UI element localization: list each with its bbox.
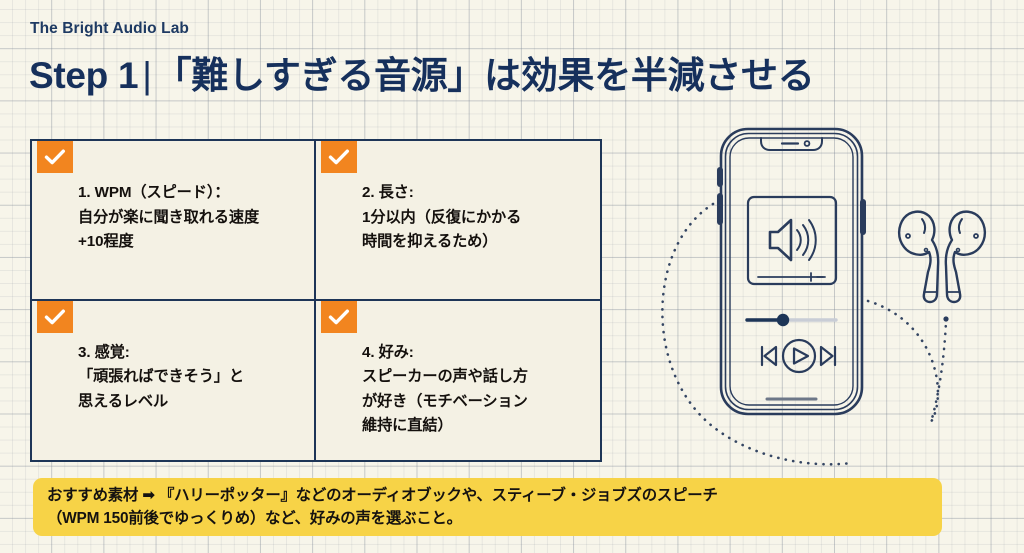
title-step-label: Step 1 <box>29 55 138 96</box>
transport-controls <box>762 340 835 372</box>
brand-eyebrow: The Bright Audio Lab <box>30 20 189 38</box>
speaker-volume-icon <box>770 220 816 260</box>
criteria-table: 1. WPM（スピード）： 自分が楽に聞き取れる速度 +10程度 2. 長さ: … <box>30 139 602 462</box>
wireless-earbuds-icon <box>899 212 985 302</box>
dotted-arc-right <box>868 301 946 422</box>
criteria-cell-2: 2. 長さ: 1分以内（反復にかかる 時間を抑えるため） <box>316 141 600 301</box>
audio-illustration <box>636 126 1024 476</box>
previous-track-icon <box>762 347 776 365</box>
page-title: Step 1|「難しすぎる音源」は効果を半減させる <box>29 45 814 99</box>
criteria-cell-text: 3. 感覚: 「頑張ればできそう」と 思えるレベル <box>78 341 302 415</box>
criteria-cell-1: 1. WPM（スピード）： 自分が楽に聞き取れる速度 +10程度 <box>32 141 316 301</box>
playback-progress-slider <box>747 314 836 326</box>
check-icon <box>37 301 73 333</box>
dotted-arc-left <box>662 204 851 464</box>
next-track-icon <box>821 347 835 365</box>
title-divider: | <box>138 55 154 96</box>
criteria-cell-text: 1. WPM（スピード）： 自分が楽に聞き取れる速度 +10程度 <box>78 181 302 255</box>
check-icon <box>321 141 357 173</box>
album-art-card <box>748 197 836 284</box>
recommendation-banner-text: おすすめ素材 ➡ 『ハリーポッター』などのオーディオブックや、スティーブ・ジョブ… <box>47 484 928 531</box>
play-icon <box>783 340 815 372</box>
criteria-cell-text: 4. 好み: スピーカーの声や話し方 が好き（モチベーション 維持に直結） <box>362 341 588 440</box>
check-icon <box>37 141 73 173</box>
criteria-cell-3: 3. 感覚: 「頑張ればできそう」と 思えるレベル <box>32 301 316 461</box>
check-icon <box>321 301 357 333</box>
recommendation-banner: おすすめ素材 ➡ 『ハリーポッター』などのオーディオブックや、スティーブ・ジョブ… <box>33 478 942 536</box>
phone-notch <box>761 138 822 150</box>
title-main-text: 「難しすぎる音源」は効果を半減させる <box>155 55 815 96</box>
criteria-cell-text: 2. 長さ: 1分以内（反復にかかる 時間を抑えるため） <box>362 181 588 255</box>
slide-canvas: The Bright Audio Lab Step 1|「難しすぎる音源」は効果… <box>0 0 1024 553</box>
criteria-cell-4: 4. 好み: スピーカーの声や話し方 が好き（モチベーション 維持に直結） <box>316 301 600 461</box>
